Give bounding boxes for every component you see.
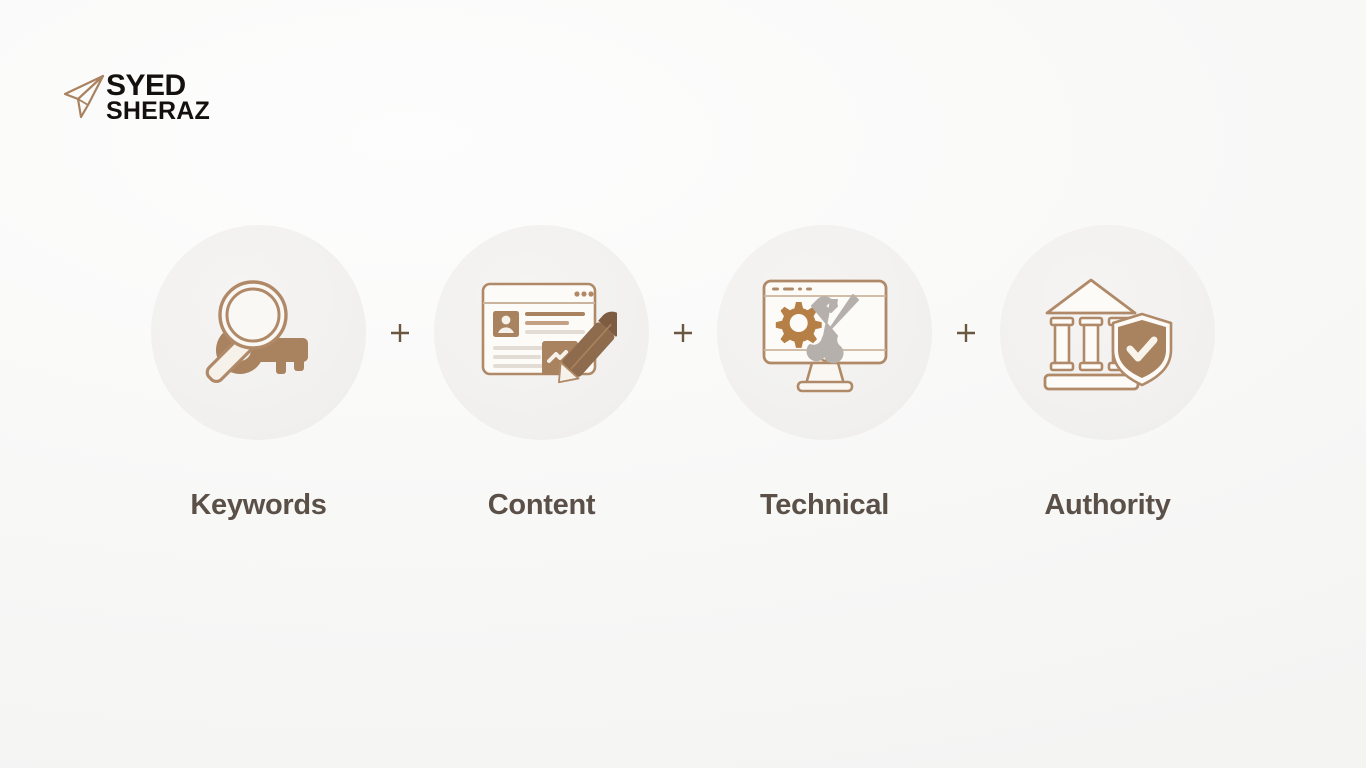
icon-disc-authority — [1000, 225, 1215, 440]
plus-separator-1 — [366, 225, 434, 440]
pillar-label-keywords: Keywords — [190, 489, 326, 522]
pillar-authority[interactable]: Authority — [1000, 225, 1215, 522]
magnifier-key-icon — [184, 258, 334, 408]
brand-wordmark: SYED SHERAZ — [106, 72, 210, 123]
pillar-keywords[interactable]: Keywords — [151, 225, 366, 522]
article-pencil-icon — [467, 258, 617, 408]
pillar-label-content: Content — [488, 489, 595, 522]
pillar-label-authority: Authority — [1044, 489, 1170, 522]
bank-shield-check-icon — [1033, 258, 1183, 408]
icon-disc-content — [434, 225, 649, 440]
plus-icon — [671, 321, 695, 345]
paper-plane-icon — [62, 72, 106, 122]
pillar-technical[interactable]: Technical — [717, 225, 932, 522]
brand-line-2: SHERAZ — [106, 100, 210, 123]
icon-disc-technical — [717, 225, 932, 440]
pillar-content[interactable]: Content — [434, 225, 649, 522]
pillar-label-technical: Technical — [760, 489, 889, 522]
plus-icon — [388, 321, 412, 345]
brand-line-1: SYED — [106, 72, 210, 100]
icon-disc-keywords — [151, 225, 366, 440]
monitor-gear-tools-icon — [750, 258, 900, 408]
plus-separator-2 — [649, 225, 717, 440]
plus-separator-3 — [932, 225, 1000, 440]
plus-icon — [954, 321, 978, 345]
seo-pillars-row: Keywords — [0, 225, 1366, 522]
brand-logo: SYED SHERAZ — [62, 72, 210, 123]
